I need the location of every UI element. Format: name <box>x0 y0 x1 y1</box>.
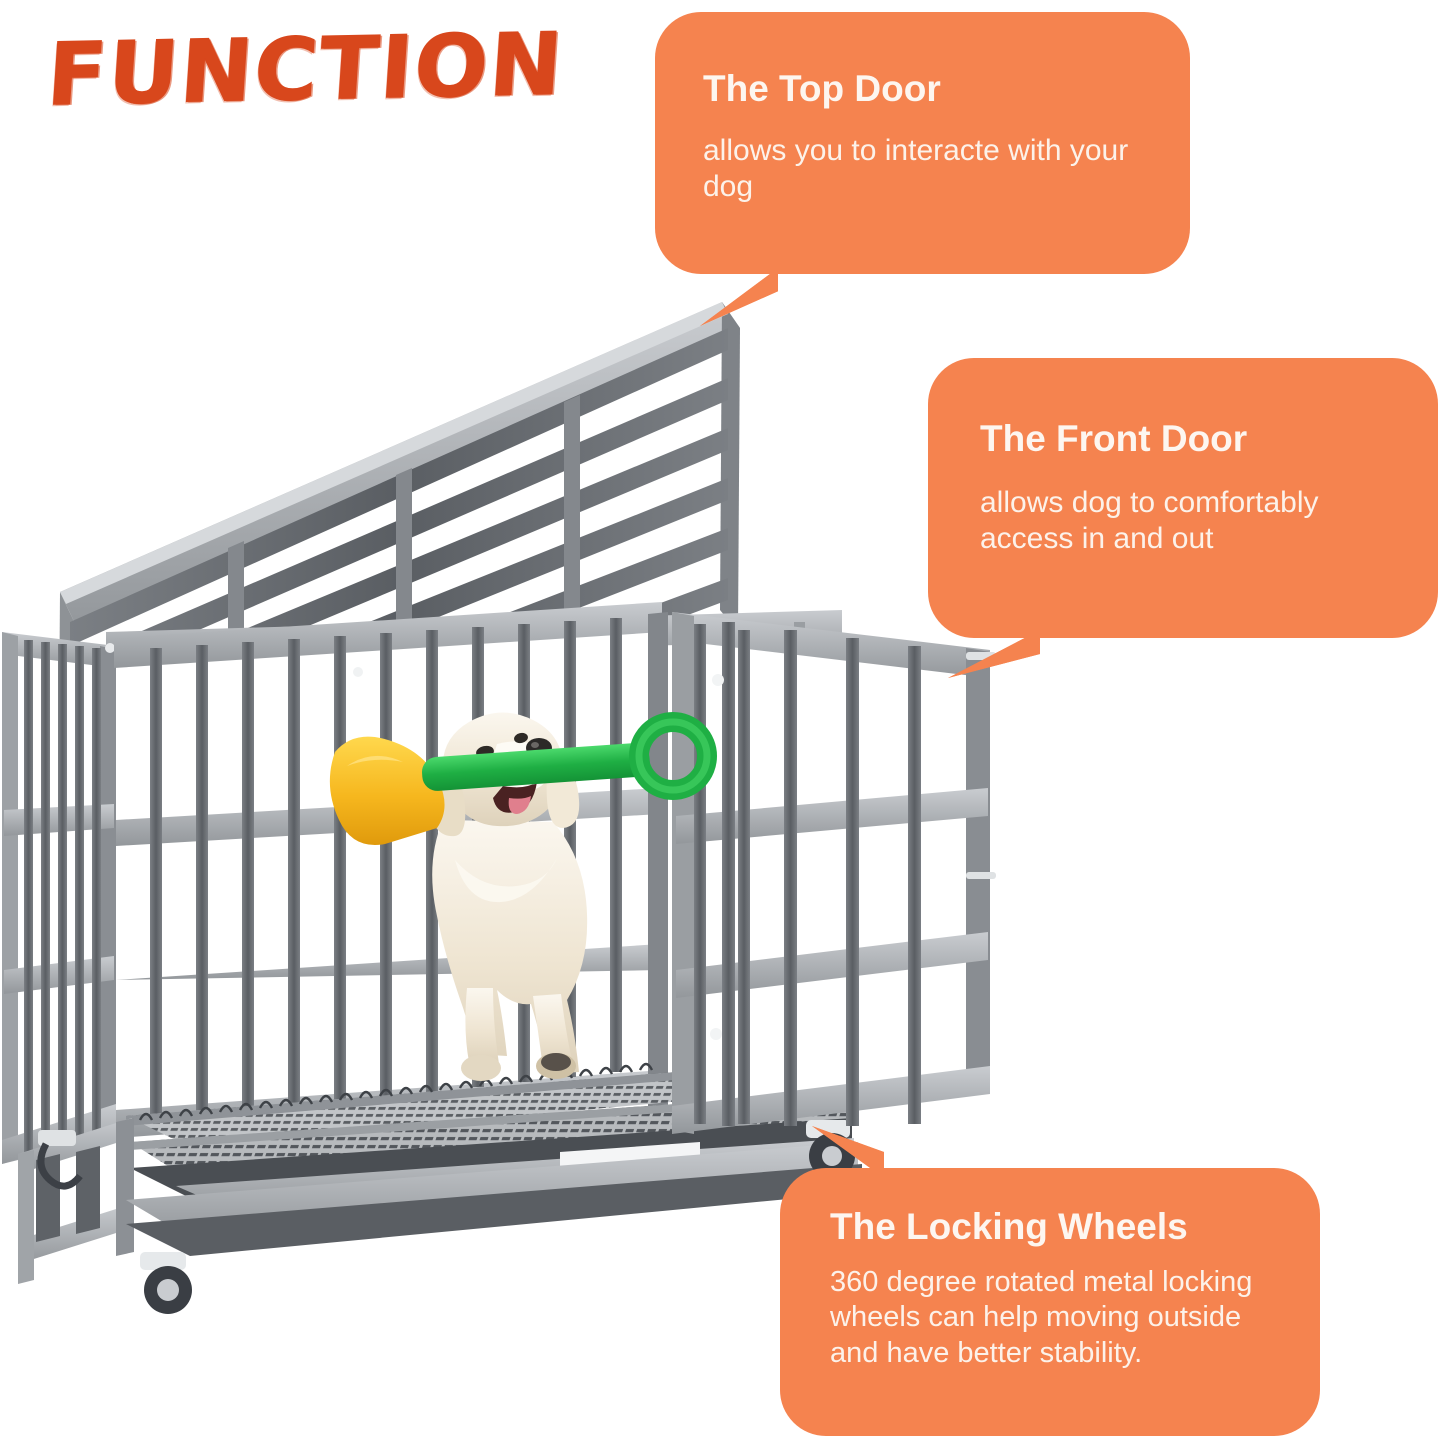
callout-top-door-body: allows you to interacte with your dog <box>703 133 1154 206</box>
callout-front-door-title: The Front Door <box>980 420 1412 459</box>
shovel-blade <box>330 737 445 845</box>
callout-top-door[interactable]: The Top Door allows you to interacte wit… <box>655 12 1190 274</box>
callout-front-door[interactable]: The Front Door allows dog to comfortably… <box>928 358 1438 638</box>
dog-with-toy <box>325 700 725 1100</box>
caster-wheel-front-left <box>140 1252 192 1314</box>
callout-locking-wheels[interactable]: The Locking Wheels 360 degree rotated me… <box>780 1168 1320 1436</box>
callout-top-door-title: The Top Door <box>703 70 1154 109</box>
dog-body <box>432 820 587 1081</box>
page-title: FUNCTION <box>44 15 567 126</box>
callout-front-door-body: allows dog to comfortably access in and … <box>980 485 1412 558</box>
callout-locking-wheels-body: 360 degree rotated metal locking wheels … <box>830 1265 1294 1371</box>
callout-locking-wheels-title: The Locking Wheels <box>830 1208 1294 1247</box>
infographic-canvas: FUNCTION <box>0 0 1445 1445</box>
left-side-panel <box>2 632 118 1164</box>
